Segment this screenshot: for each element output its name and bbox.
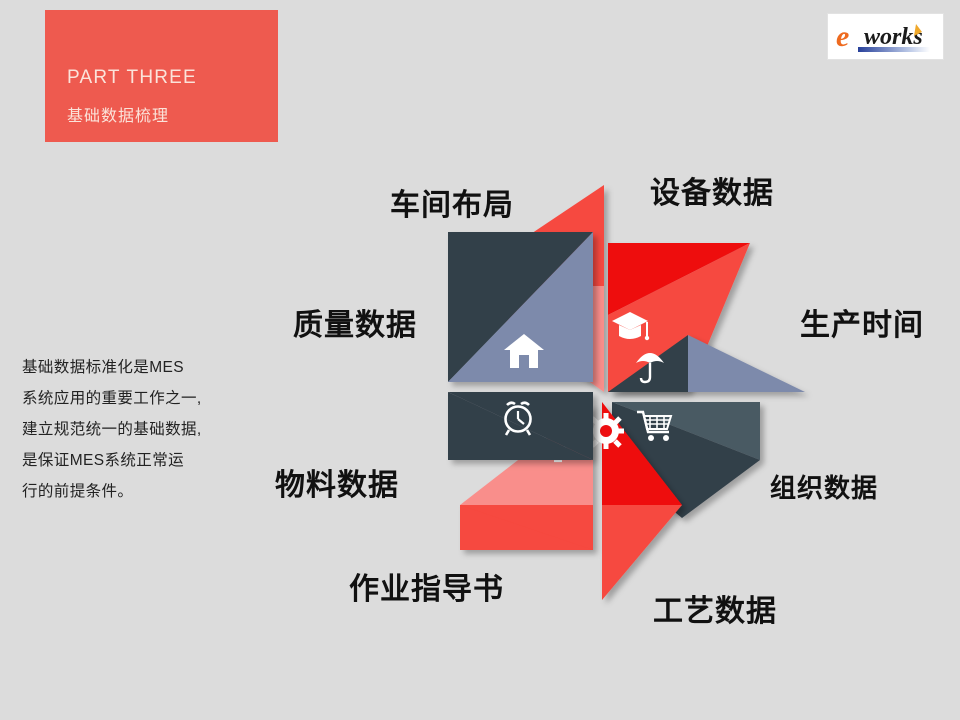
logo-svg: e works bbox=[828, 14, 943, 59]
gear-icon bbox=[588, 413, 624, 449]
intro-line-2: 系统应用的重要工作之一, bbox=[22, 383, 272, 414]
label-sheng-chan-shi-jian[interactable]: 生产时间 bbox=[800, 300, 924, 344]
logo-artwork: e works bbox=[828, 14, 943, 59]
label-she-bei-shu-ju[interactable]: 设备数据 bbox=[650, 168, 774, 212]
label-wu-liao-shu-ju[interactable]: 物料数据 bbox=[275, 460, 399, 504]
intro-line-3: 建立规范统一的基础数据, bbox=[22, 414, 272, 445]
label-zu-zhi-shu-ju[interactable]: 组织数据 bbox=[770, 468, 878, 505]
section-title-en: PART THREE bbox=[67, 67, 197, 89]
label-zuo-ye-zhi-dao-shu[interactable]: 作业指导书 bbox=[349, 564, 504, 608]
label-che-jian-bu-ju[interactable]: 车间布局 bbox=[390, 180, 514, 224]
intro-line-1: 基础数据标准化是MES bbox=[22, 352, 272, 383]
slide-canvas: PART THREE 基础数据梳理 e works 基础数据标准化是MES 系统… bbox=[0, 0, 960, 720]
section-title-box: PART THREE 基础数据梳理 bbox=[45, 10, 278, 142]
intro-line-5: 行的前提条件。 bbox=[22, 476, 272, 507]
logo-letter-e: e bbox=[836, 20, 849, 53]
label-gong-yi-shu-ju[interactable]: 工艺数据 bbox=[653, 586, 777, 630]
label-zhi-liang-shu-ju[interactable]: 质量数据 bbox=[293, 300, 417, 344]
blade-left[interactable] bbox=[448, 392, 593, 460]
intro-paragraph: 基础数据标准化是MES 系统应用的重要工作之一, 建立规范统一的基础数据, 是保… bbox=[22, 352, 272, 507]
logo-underline-bar bbox=[858, 47, 930, 52]
intro-line-4: 是保证MES系统正常运 bbox=[22, 445, 272, 476]
pinwheel-diagram: $ bbox=[430, 170, 830, 615]
eworks-logo: e works bbox=[827, 13, 944, 60]
section-title-cn: 基础数据梳理 bbox=[67, 102, 169, 126]
